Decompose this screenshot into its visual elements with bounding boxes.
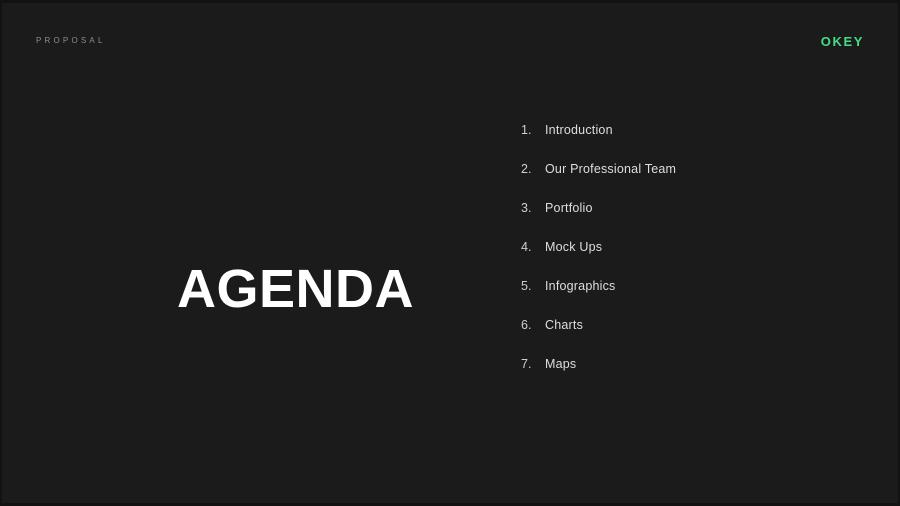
- agenda-slide: PROPOSAL OKEY AGENDA 1. Introduction 2. …: [0, 0, 900, 506]
- list-item[interactable]: 7. Maps: [521, 358, 851, 397]
- list-item-index: 1.: [521, 124, 545, 137]
- list-item-label: Introduction: [545, 124, 613, 137]
- list-item-index: 3.: [521, 202, 545, 215]
- list-item[interactable]: 2. Our Professional Team: [521, 163, 851, 202]
- list-item-index: 5.: [521, 280, 545, 293]
- list-item[interactable]: 5. Infographics: [521, 280, 851, 319]
- list-item-label: Maps: [545, 358, 576, 371]
- list-item-index: 2.: [521, 163, 545, 176]
- list-item-label: Portfolio: [545, 202, 593, 215]
- page-title: AGENDA: [177, 262, 414, 316]
- list-item-label: Our Professional Team: [545, 163, 676, 176]
- list-item-label: Infographics: [545, 280, 616, 293]
- list-item[interactable]: 3. Portfolio: [521, 202, 851, 241]
- list-item-index: 4.: [521, 241, 545, 254]
- slide-edge-top: [0, 0, 900, 3]
- slide-edge-left: [0, 0, 2, 506]
- list-item-index: 7.: [521, 358, 545, 371]
- list-item-label: Charts: [545, 319, 583, 332]
- brand-logo: OKEY: [821, 35, 864, 48]
- list-item[interactable]: 6. Charts: [521, 319, 851, 358]
- agenda-list: 1. Introduction 2. Our Professional Team…: [521, 124, 851, 397]
- list-item[interactable]: 4. Mock Ups: [521, 241, 851, 280]
- list-item[interactable]: 1. Introduction: [521, 124, 851, 163]
- list-item-label: Mock Ups: [545, 241, 602, 254]
- list-item-index: 6.: [521, 319, 545, 332]
- eyebrow-label: PROPOSAL: [36, 37, 106, 45]
